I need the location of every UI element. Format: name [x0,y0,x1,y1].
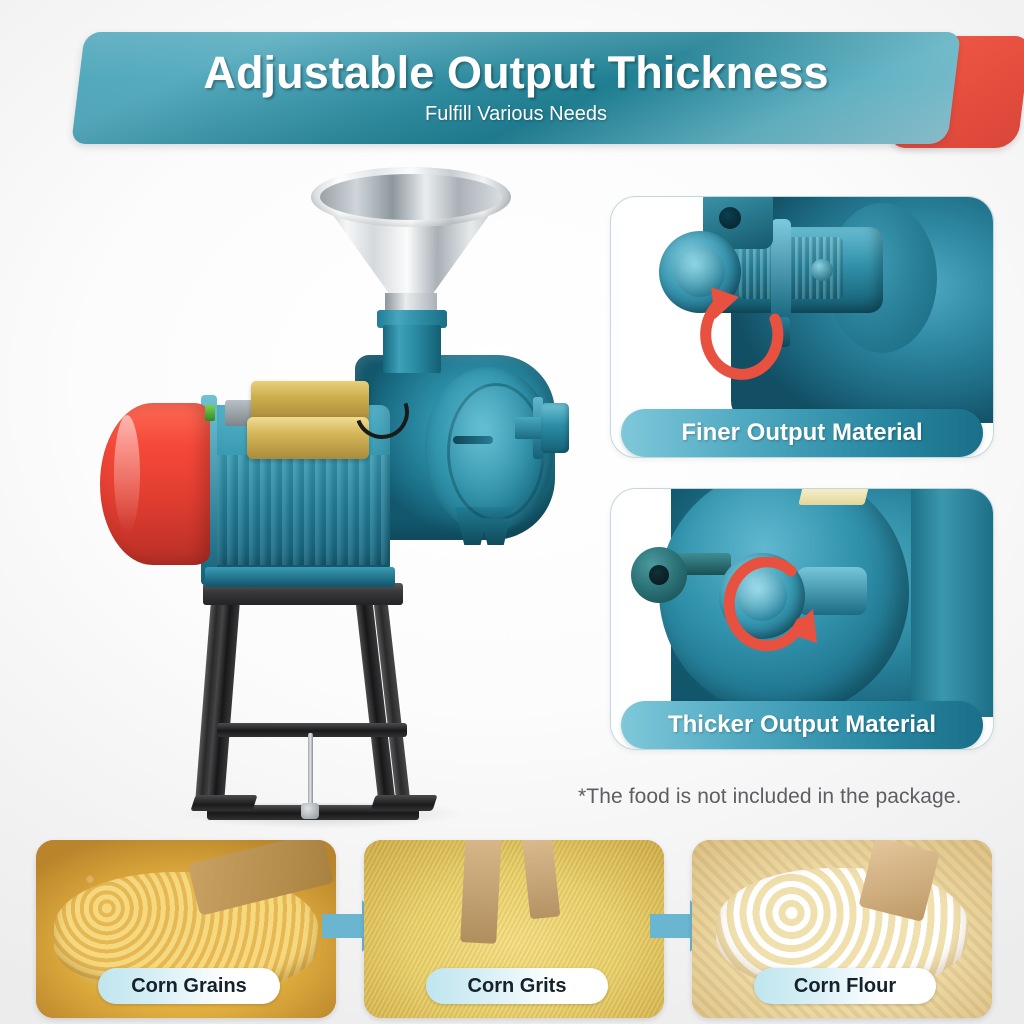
inset-label-text-finer: Finer Output Material [681,419,922,447]
banner-teal-plate [71,32,961,144]
inset-label-pill-thicker: Thicker Output Material [621,701,983,749]
food-label-text-3: Corn Flour [794,975,896,998]
hopper-tube [383,325,441,373]
brass-terminal-box-upper [251,381,369,421]
food-card-corn-grains: Corn Grains [36,840,336,1018]
closeup2-sticker [798,489,869,505]
closeup2-small-knob [631,547,687,603]
food-label-pill-1: Corn Grains [98,968,280,1004]
inset-panel-thicker: Thicker Output Material [610,488,994,750]
header-banner: Adjustable Output Thickness Fulfill Vari… [78,32,958,152]
adjust-knob-head [541,403,569,453]
rotate-counterclockwise-arrow-icon [689,271,799,381]
hopper-bowl-icon [311,167,511,227]
food-label-pill-2: Corn Grits [426,968,608,1004]
food-label-text-1: Corn Grains [131,975,247,998]
brass-terminal-box-lower [247,417,369,459]
stand-foot-left [190,795,257,811]
stand-tension-nut [301,803,319,819]
motor-cooling-fins [205,455,390,565]
infographic-canvas: Adjustable Output Thickness Fulfill Vari… [0,0,1024,1024]
motor-red-end-cap [100,403,210,565]
food-label-text-2: Corn Grits [468,975,567,998]
grinder-face-ring [447,383,545,521]
motor-foot [205,567,395,587]
inset-label-text-thicker: Thicker Output Material [668,711,936,739]
grinder-bolt [453,436,493,444]
food-card-corn-flour: Corn Flour [692,840,992,1018]
inset-panel-finer: Finer Output Material [610,196,994,458]
green-sticker [205,405,215,421]
inset-label-pill-finer: Finer Output Material [621,409,983,457]
disclaimer-text: *The food is not included in the package… [578,785,962,809]
stand-tension-rod [308,733,313,811]
rotate-clockwise-arrow-icon [717,557,827,667]
closeup-ball-stud [811,259,833,281]
food-label-pill-3: Corn Flour [754,968,936,1004]
stand-foot-right [370,795,437,811]
closeup2-right-body [911,489,993,717]
product-photo-grain-mill [55,155,595,845]
food-card-corn-grits: Corn Grits [364,840,664,1018]
